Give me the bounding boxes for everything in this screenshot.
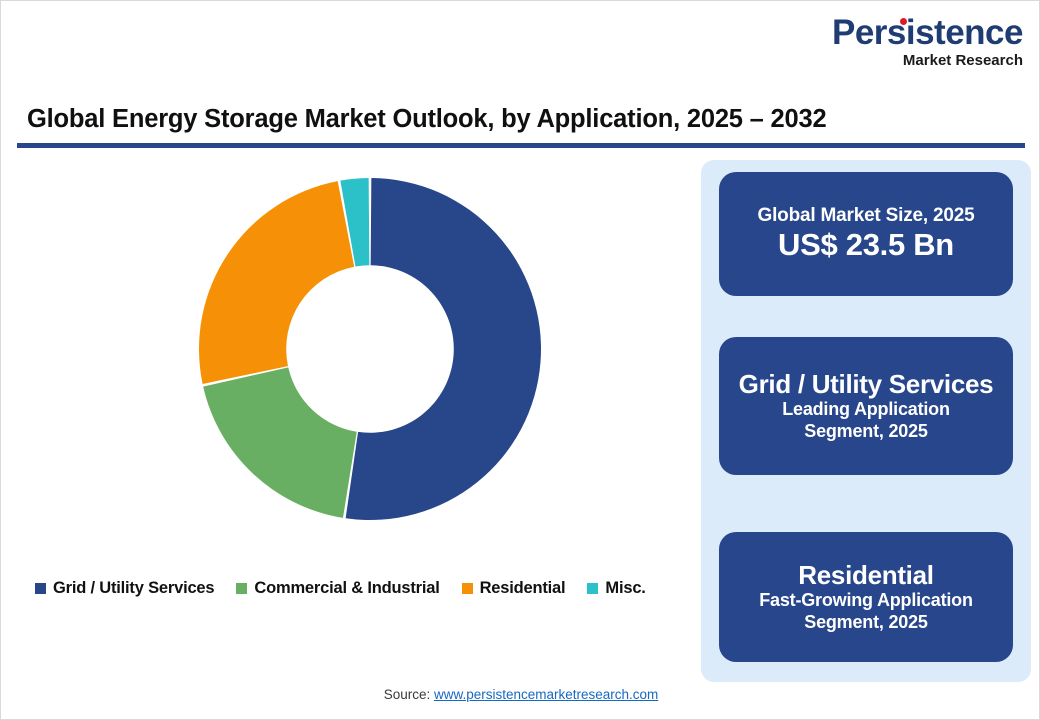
donut-slices [199,178,541,520]
chart-legend: Grid / Utility ServicesCommercial & Indu… [35,579,646,598]
source-line: Source: www.persistencemarketresearch.co… [1,687,1040,702]
stat-card-leading-segment: Grid / Utility Services Leading Applicat… [719,337,1013,475]
donut-chart-svg [17,156,689,566]
donut-chart [17,156,689,566]
source-url-link[interactable]: www.persistencemarketresearch.com [434,687,658,702]
fast-growing-segment-sub-line2: Segment, 2025 [731,612,1001,634]
brand-logo: Persistence Market Research [813,15,1023,68]
legend-swatch-icon [587,583,598,594]
stat-card-market-size: Global Market Size, 2025 US$ 23.5 Bn [719,172,1013,296]
legend-label: Residential [480,579,566,598]
title-divider [17,143,1025,148]
infographic-page: Persistence Market Research Global Energ… [0,0,1040,720]
stats-panel: Global Market Size, 2025 US$ 23.5 Bn Gri… [701,160,1031,682]
donut-slice-grid-utility-services [346,178,541,520]
market-size-label: Global Market Size, 2025 [731,205,1001,227]
legend-swatch-icon [236,583,247,594]
legend-label: Commercial & Industrial [254,579,439,598]
market-size-value: US$ 23.5 Bn [731,228,1001,263]
legend-item: Misc. [587,579,645,598]
donut-slice-commercial-industrial [203,367,357,517]
legend-item: Commercial & Industrial [236,579,439,598]
page-title: Global Energy Storage Market Outlook, by… [27,105,927,134]
source-prefix: Source: [384,687,434,702]
leading-segment-name: Grid / Utility Services [731,370,1001,400]
brand-name: Persistence [832,15,1023,50]
legend-swatch-icon [35,583,46,594]
legend-item: Residential [462,579,566,598]
brand-tagline: Market Research [813,53,1023,68]
leading-segment-sub-line1: Leading Application [731,399,1001,421]
fast-growing-segment-sub-line1: Fast-Growing Application [731,590,1001,612]
legend-label: Grid / Utility Services [53,579,214,598]
leading-segment-sub-line2: Segment, 2025 [731,421,1001,443]
brand-logo-dot-icon [900,18,907,25]
donut-slice-residential [199,181,354,384]
legend-swatch-icon [462,583,473,594]
legend-item: Grid / Utility Services [35,579,214,598]
fast-growing-segment-name: Residential [731,561,1001,591]
stat-card-fast-growing-segment: Residential Fast-Growing Application Seg… [719,532,1013,662]
legend-label: Misc. [605,579,645,598]
